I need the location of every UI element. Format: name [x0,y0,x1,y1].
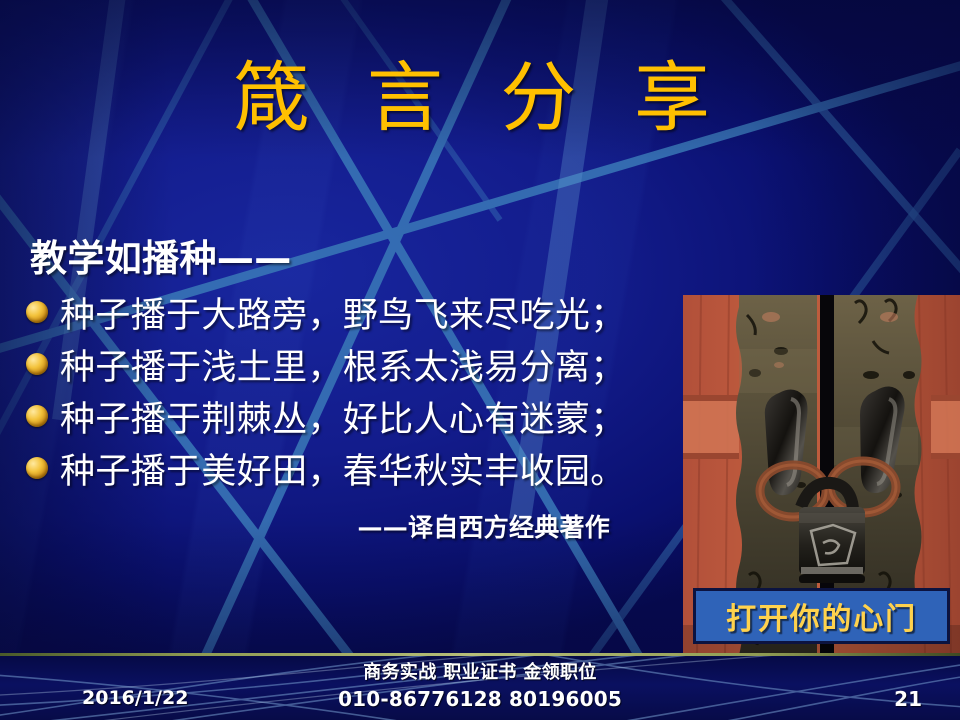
slide-title: 箴 言 分 享 [0,58,960,138]
bullet-list: 种子播于大路旁，野鸟飞来尽吃光； 种子播于浅土里，根系太浅易分离； 种子播于荆棘… [22,286,682,494]
list-item: 种子播于大路旁，野鸟飞来尽吃光； [22,286,682,338]
slide-body: 教学如播种—— 种子播于大路旁，野鸟飞来尽吃光； 种子播于浅土里，根系太浅易分离… [22,228,682,544]
list-item: 种子播于美好田，春华秋实丰收园。 [22,442,682,494]
presentation-slide: 箴 言 分 享 教学如播种—— 种子播于大路旁，野鸟飞来尽吃光； 种子播于浅土里… [0,0,960,720]
footer-center-block: 商务实战 职业证书 金领职位 010-86776128 80196005 [0,660,960,713]
footer-phone-line: 010-86776128 80196005 [0,686,960,713]
bullet-text: 种子播于荆棘丛，好比人心有迷蒙； [60,391,626,442]
gold-sphere-bullet-icon [26,301,48,323]
gold-sphere-bullet-icon [26,405,48,427]
gold-sphere-bullet-icon [26,353,48,375]
body-heading: 教学如播种—— [30,228,682,282]
list-item: 种子播于浅土里，根系太浅易分离； [22,338,682,390]
bullet-text: 种子播于浅土里，根系太浅易分离； [60,339,626,390]
source-attribution: ——译自西方经典著作 [22,508,682,544]
footer-org-line: 商务实战 职业证书 金领职位 [0,660,960,686]
footer-page-number: 21 [894,687,922,711]
photo-caption-text: 打开你的心门 [726,594,917,638]
bullet-text: 种子播于美好田，春华秋实丰收园。 [60,443,626,494]
slide-footer: 2016/1/22 商务实战 职业证书 金领职位 010-86776128 80… [0,656,960,720]
photo-caption-box: 打开你的心门 [693,588,950,644]
gold-sphere-bullet-icon [26,457,48,479]
list-item: 种子播于荆棘丛，好比人心有迷蒙； [22,390,682,442]
bullet-text: 种子播于大路旁，野鸟飞来尽吃光； [60,287,626,338]
